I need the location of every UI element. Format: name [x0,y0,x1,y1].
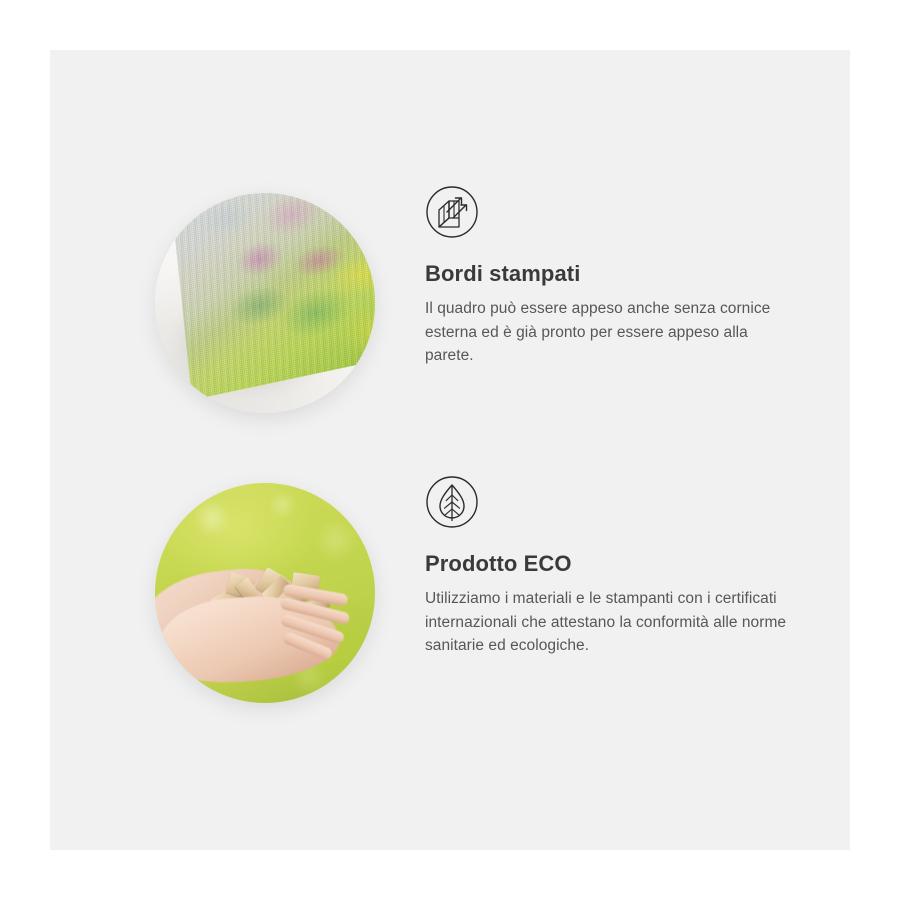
feature-text-eco-product: Prodotto ECO Utilizziamo i materiali e l… [425,475,797,658]
fingers [278,584,366,659]
hands-holding-wood-chips-photo [155,483,375,703]
content-panel [50,50,850,850]
feature-title: Prodotto ECO [425,551,797,577]
leaf-icon [425,475,479,529]
canvas-photo-background [155,193,375,413]
product-info-graphic: Bordi stampati Il quadro può essere appe… [0,0,900,900]
eco-photo-background [155,483,375,703]
feature-text-printed-edges: Bordi stampati Il quadro può essere appe… [425,185,797,368]
wrapped-canvas-edges-icon [425,185,479,239]
feature-description: Il quadro può essere appeso anche senza … [425,297,797,368]
feature-description: Utilizziamo i materiali e le stampanti c… [425,587,797,658]
canvas-printed-face [168,193,375,400]
canvas-print-corner-photo [155,193,375,413]
feature-title: Bordi stampati [425,261,797,287]
